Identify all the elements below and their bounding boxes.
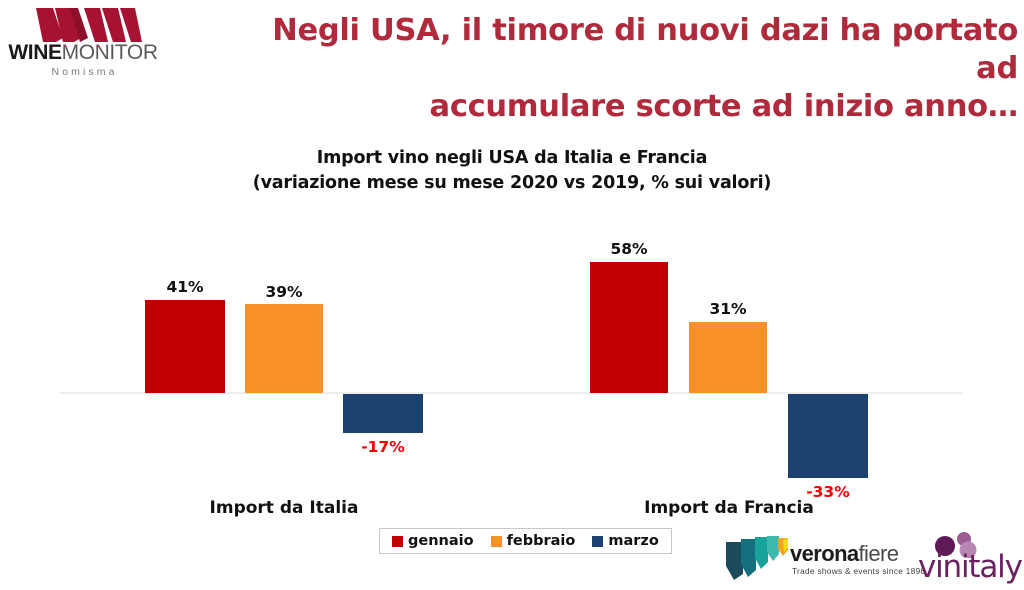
veronafiere-tagline: Trade shows & events since 1898 <box>792 567 925 576</box>
category-label-italia: Import da Italia <box>164 498 404 518</box>
veronafiere-mark-icon <box>726 536 788 580</box>
legend-label-febbraio: febbraio <box>507 533 576 549</box>
chart-plot-area: 41% 39% -17% 58% 31% -33% Import da Ital… <box>0 0 1024 590</box>
label-italia-gennaio: 41% <box>145 278 225 296</box>
legend-label-gennaio: gennaio <box>408 533 474 549</box>
veronafiere-word-bold: verona <box>790 541 859 566</box>
bar-italia-gennaio <box>145 300 225 393</box>
legend-swatch-gennaio-icon <box>392 536 403 547</box>
legend-swatch-febbraio-icon <box>491 536 502 547</box>
bar-francia-febbraio <box>689 322 767 393</box>
label-francia-febbraio: 31% <box>689 300 767 318</box>
veronafiere-logo: veronafiere Trade shows & events since 1… <box>726 534 911 586</box>
label-italia-febbraio: 39% <box>245 283 323 301</box>
legend-item-febbraio[interactable]: febbraio <box>491 533 576 549</box>
veronafiere-wordmark: veronafiere <box>790 542 898 566</box>
bar-italia-febbraio <box>245 304 323 393</box>
bar-francia-marzo <box>788 394 868 478</box>
vinitaly-wordmark: vinitaly <box>918 550 1022 584</box>
label-francia-gennaio: 58% <box>590 240 668 258</box>
bar-francia-gennaio <box>590 262 668 393</box>
legend-item-gennaio[interactable]: gennaio <box>392 533 474 549</box>
vinitaly-logo: vinitaly <box>918 532 1018 586</box>
legend-swatch-marzo-icon <box>592 536 603 547</box>
label-italia-marzo: -17% <box>343 438 423 456</box>
category-label-francia: Import da Francia <box>609 498 849 518</box>
legend-item-marzo[interactable]: marzo <box>592 533 658 549</box>
slide-canvas: WINEMONITOR Nomisma Negli USA, il timore… <box>0 0 1024 590</box>
bar-italia-marzo <box>343 394 423 433</box>
legend-label-marzo: marzo <box>608 533 658 549</box>
chart-legend: gennaio febbraio marzo <box>379 528 672 554</box>
veronafiere-word-light: fiere <box>859 541 899 566</box>
